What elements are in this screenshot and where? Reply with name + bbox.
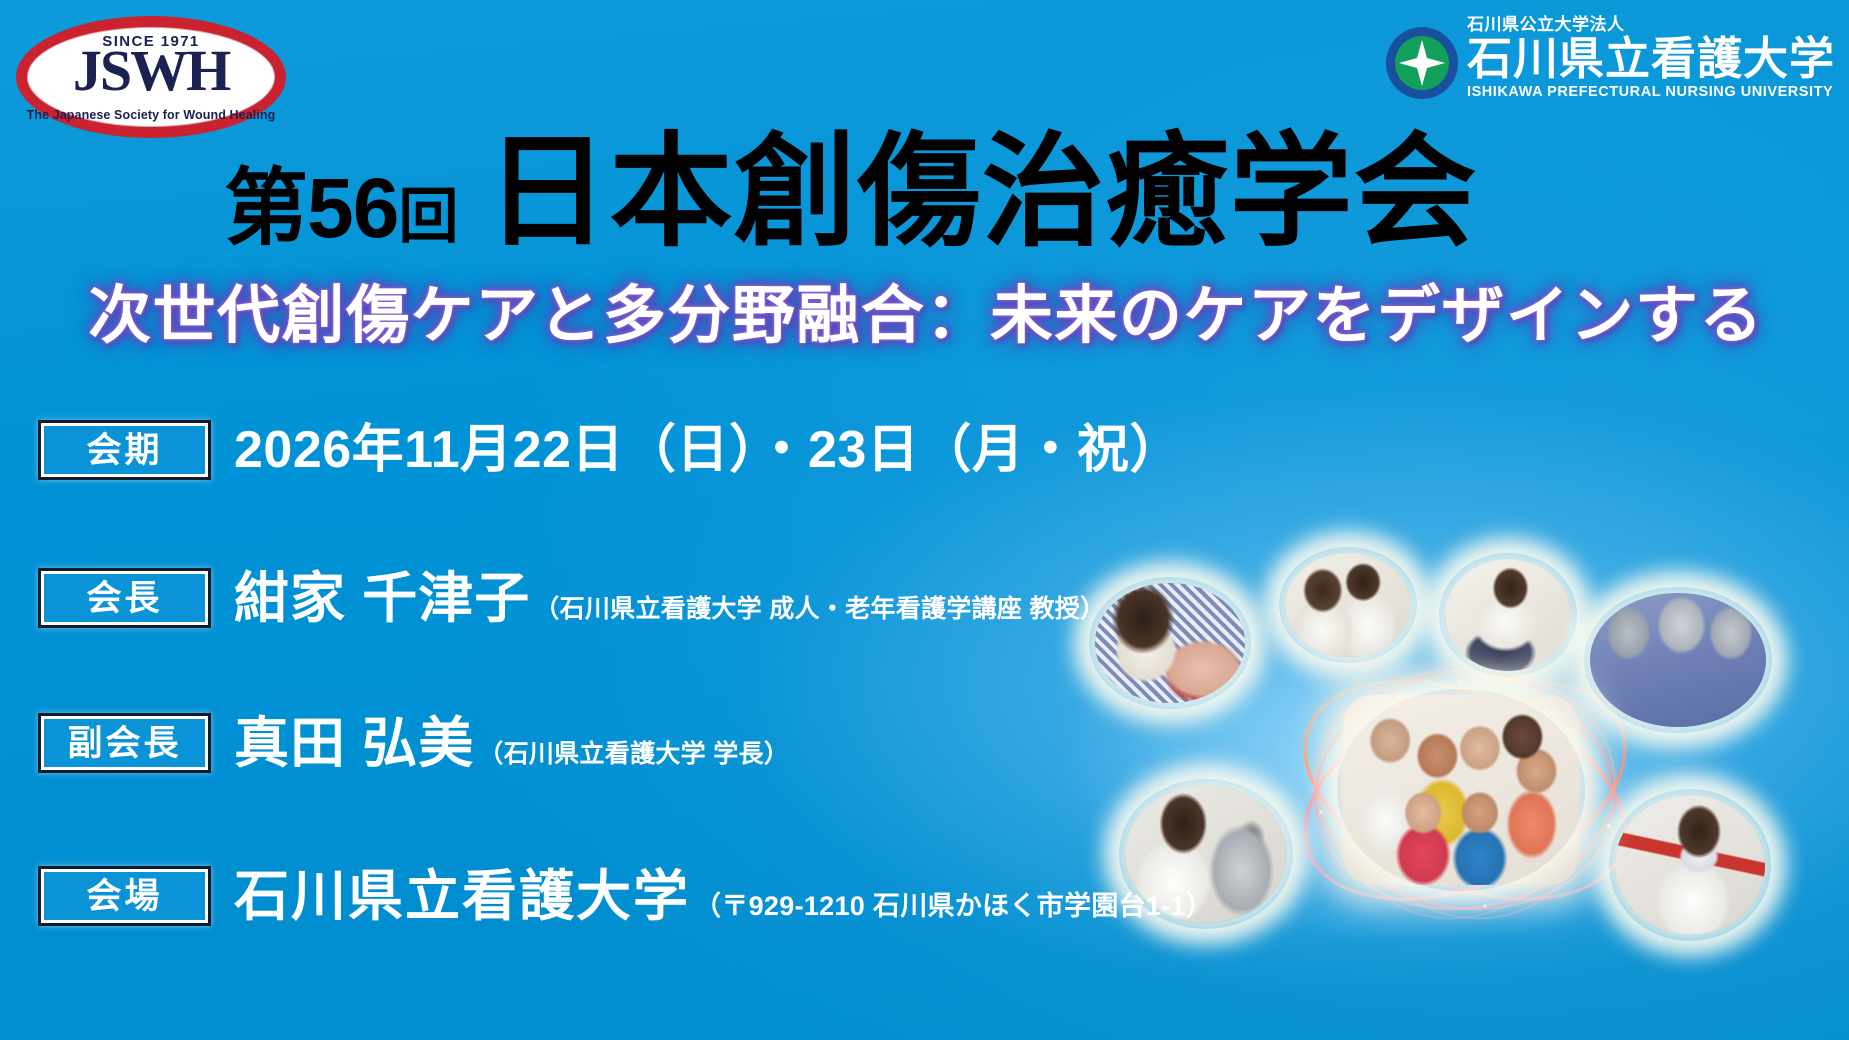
kaicho-name: 紺家 千津子 bbox=[234, 571, 530, 626]
consultation-photo bbox=[1285, 553, 1411, 657]
title-ordinal-prefix: 第 bbox=[224, 161, 307, 255]
info-row-kaicho: 会長 紺家 千津子 （石川県立看護大学 成人・老年看護学講座 教授） bbox=[38, 568, 1105, 628]
jswh-society-logo: SINCE 1971 JSWH The Japanese Society for… bbox=[16, 16, 286, 138]
family-group-photo bbox=[1343, 695, 1579, 885]
wound-care-photo bbox=[1095, 583, 1245, 703]
laboratory-photo bbox=[1615, 795, 1765, 935]
label-badge-kaiki: 会期 bbox=[38, 420, 211, 480]
jswh-fullname-text: The Japanese Society for Wound Healing bbox=[16, 108, 286, 122]
jswh-acronym-text: JSWH bbox=[16, 42, 286, 100]
info-value-kaiki: 2026年11月22日（日）・23日（月・祝） bbox=[234, 424, 1182, 476]
label-badge-kaicho-text: 会長 bbox=[86, 581, 162, 616]
university-logo: 石川県公立大学法人 石川県立看護大学 ISHIKAWA PREFECTURAL … bbox=[1386, 16, 1835, 101]
label-badge-kaiki-text: 会期 bbox=[86, 433, 162, 468]
label-badge-kaijo: 会場 bbox=[38, 866, 211, 926]
info-row-kaiki: 会期 2026年11月22日（日）・23日（月・祝） bbox=[38, 420, 1182, 480]
university-corporation-label: 石川県公立大学法人 bbox=[1467, 16, 1835, 35]
kaicho-affiliation: （石川県立看護大学 成人・老年看護学講座 教授） bbox=[534, 589, 1105, 625]
fukukaicho-name: 真田 弘美 bbox=[234, 716, 474, 771]
label-badge-kaijo-text: 会場 bbox=[86, 879, 162, 914]
university-name-ja: 石川県立看護大学 bbox=[1467, 36, 1835, 82]
page-subtitle: 次世代創傷ケアと多分野融合：未来のケアをデザインする bbox=[16, 283, 1836, 349]
kaijo-venue: 石川県立看護大学 bbox=[234, 869, 690, 924]
info-row-fukukaicho: 副会長 真田 弘美 （石川県立看護大学 学長） bbox=[38, 713, 789, 773]
info-row-kaijo: 会場 石川県立看護大学 （〒929-1210 石川県かほく市学園台1-1） bbox=[38, 866, 1213, 926]
label-badge-fukukaicho-text: 副会長 bbox=[67, 726, 181, 761]
title-ordinal: 第56回 bbox=[224, 166, 457, 254]
info-value-fukukaicho: 真田 弘美 （石川県立看護大学 学長） bbox=[234, 716, 789, 771]
surgery-photo bbox=[1590, 593, 1766, 727]
title-society-name: 日本創傷治癒学会 bbox=[485, 131, 1477, 254]
title-ordinal-number: 56 bbox=[307, 161, 398, 255]
label-badge-fukukaicho: 副会長 bbox=[38, 713, 211, 773]
orbital-light-rings-icon bbox=[1275, 640, 1655, 940]
info-value-kaijo: 石川県立看護大学 （〒929-1210 石川県かほく市学園台1-1） bbox=[234, 869, 1213, 924]
patient-care-photo bbox=[1445, 559, 1571, 671]
info-value-kaicho: 紺家 千津子 （石川県立看護大学 成人・老年看護学講座 教授） bbox=[234, 571, 1105, 626]
conference-banner: SINCE 1971 JSWH The Japanese Society for… bbox=[0, 0, 1849, 1040]
kaiki-dates: 2026年11月22日（日）・23日（月・祝） bbox=[234, 424, 1182, 476]
kaijo-address: （〒929-1210 石川県かほく市学園台1-1） bbox=[694, 884, 1213, 923]
title-ordinal-suffix: 回 bbox=[398, 183, 457, 250]
page-title: 第56回 日本創傷治癒学会 bbox=[224, 131, 1477, 254]
fukukaicho-affiliation: （石川県立看護大学 学長） bbox=[478, 734, 789, 770]
label-badge-kaicho: 会長 bbox=[38, 568, 211, 628]
university-logo-text: 石川県公立大学法人 石川県立看護大学 ISHIKAWA PREFECTURAL … bbox=[1467, 16, 1835, 101]
ishikawa-star-icon bbox=[1386, 27, 1458, 99]
university-name-en: ISHIKAWA PREFECTURAL NURSING UNIVERSITY bbox=[1467, 85, 1835, 101]
